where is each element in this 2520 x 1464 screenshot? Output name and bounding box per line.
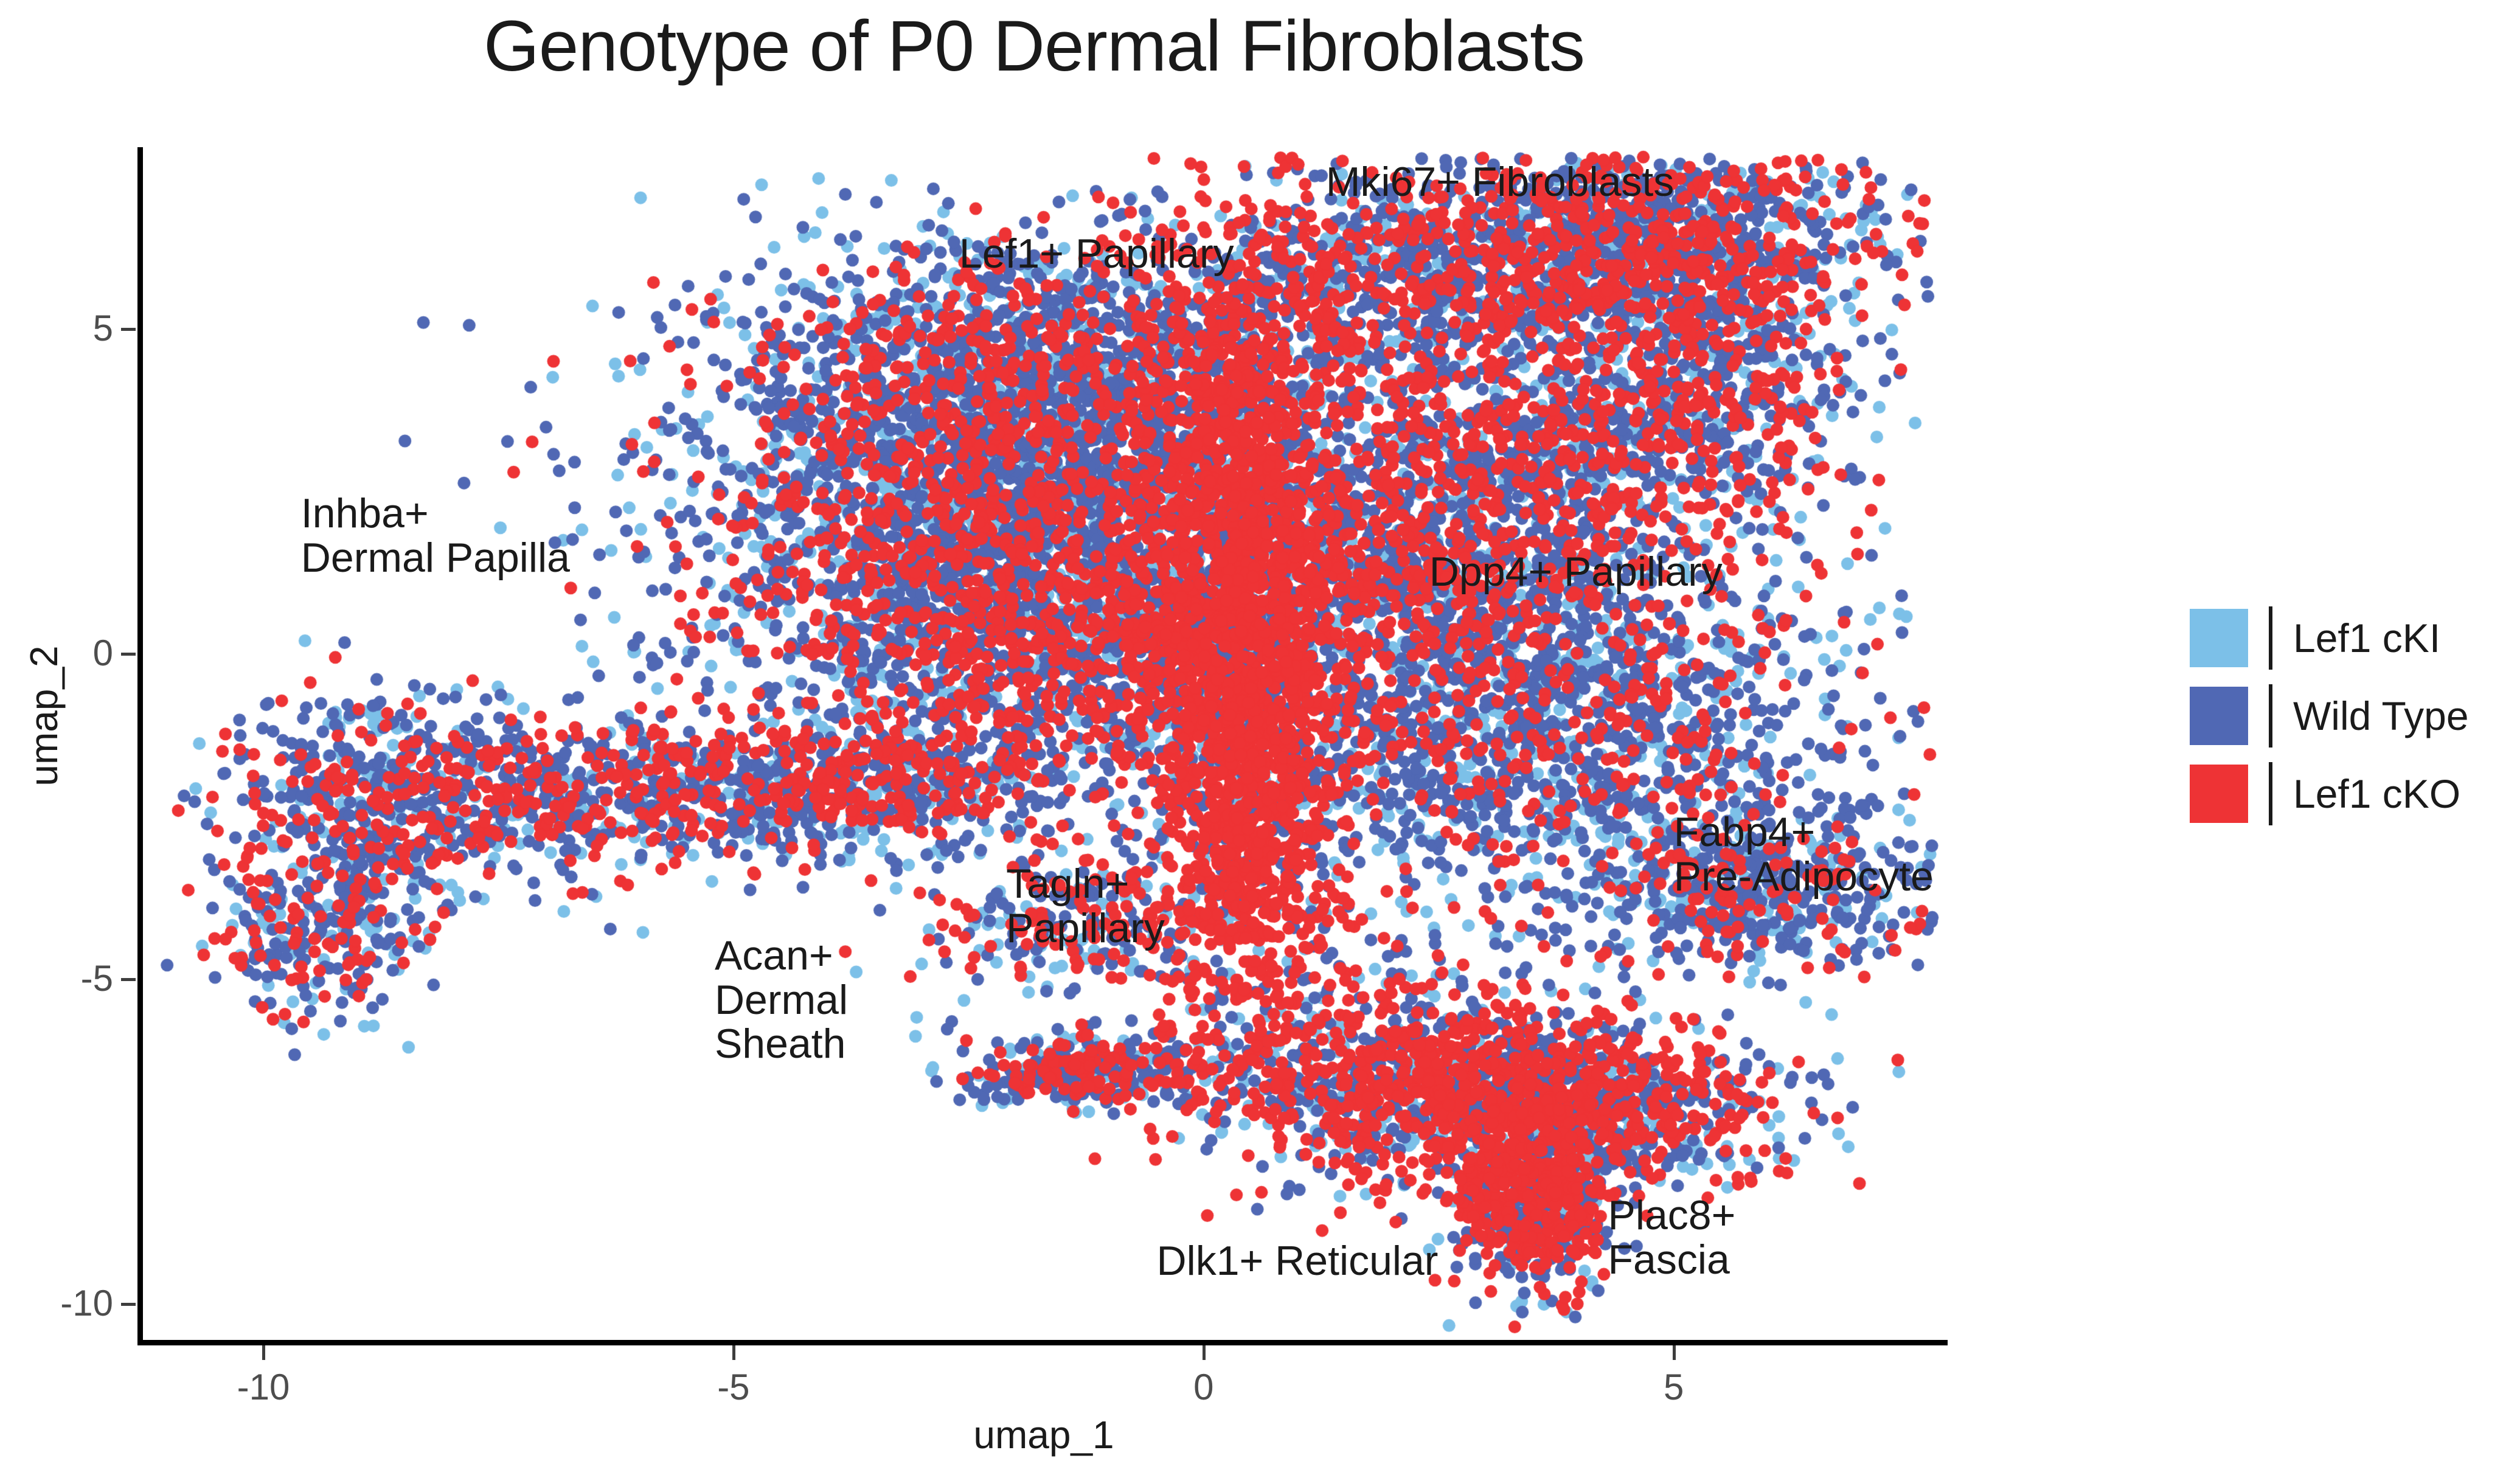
y-tick-mark <box>121 653 136 656</box>
legend-swatch-icon <box>2190 609 2248 667</box>
y-axis-line <box>137 147 143 1345</box>
legend-divider-icon <box>2269 762 2272 825</box>
y-tick-label: -10 <box>16 1282 113 1324</box>
legend-item[interactable]: Wild Type <box>2190 677 2469 755</box>
y-tick-mark <box>121 328 136 331</box>
x-tick-label: -5 <box>673 1366 794 1408</box>
y-tick-mark <box>121 978 136 981</box>
page-title: Genotype of P0 Dermal Fibroblasts <box>0 5 2068 88</box>
cluster-label-inhba-dermal-papilla: Inhba+ Dermal Papilla <box>301 491 570 580</box>
y-tick-label: -5 <box>16 957 113 999</box>
legend-label: Lef1 cKI <box>2293 615 2440 661</box>
x-axis-title: umap_1 <box>141 1412 1946 1457</box>
legend-swatch-icon <box>2190 765 2248 823</box>
cluster-label-mki67-fibroblasts: Mki67+ Fibroblasts <box>1326 160 1675 204</box>
cluster-label-plac8-fascia: Plac8+ Fascia <box>1608 1193 1736 1282</box>
x-tick-mark <box>1203 1345 1206 1360</box>
y-tick-mark <box>121 1303 136 1306</box>
x-tick-mark <box>1673 1345 1676 1360</box>
cluster-label-tagln-papillary: Tagln+ Papillary <box>1006 862 1165 951</box>
cluster-label-lef1-papillary: Lef1+ Papillary <box>959 232 1234 276</box>
legend: Lef1 cKIWild TypeLef1 cKO <box>2190 599 2469 833</box>
x-axis-line <box>137 1340 1948 1345</box>
x-tick-mark <box>262 1345 265 1360</box>
legend-item[interactable]: Lef1 cKO <box>2190 755 2469 833</box>
x-tick-label: 0 <box>1143 1366 1265 1408</box>
legend-label: Lef1 cKO <box>2293 771 2460 817</box>
y-tick-label: 5 <box>16 307 113 349</box>
x-tick-label: -10 <box>203 1366 324 1408</box>
plot-panel <box>141 147 1946 1343</box>
umap-scatter-plot: Genotype of P0 Dermal Fibroblasts -10-50… <box>0 0 2520 1464</box>
legend-item[interactable]: Lef1 cKI <box>2190 599 2469 677</box>
x-tick-mark <box>732 1345 735 1360</box>
legend-label: Wild Type <box>2293 693 2469 739</box>
scatter-points-canvas <box>141 147 1946 1343</box>
cluster-label-acan-dermal-sheath: Acan+ Dermal Sheath <box>715 934 848 1066</box>
cluster-label-dpp4-papillary: Dpp4+ Papillary <box>1429 550 1723 594</box>
legend-divider-icon <box>2269 684 2272 748</box>
cluster-label-dlk1-reticular: Dlk1+ Reticular <box>1157 1239 1439 1283</box>
y-axis-title: umap_2 <box>21 625 66 807</box>
legend-swatch-icon <box>2190 687 2248 745</box>
cluster-label-fabp4-pre-adipocyte: Fabp4+ Pre-Adipocyte <box>1674 810 1934 899</box>
x-tick-label: 5 <box>1613 1366 1735 1408</box>
legend-divider-icon <box>2269 606 2272 670</box>
